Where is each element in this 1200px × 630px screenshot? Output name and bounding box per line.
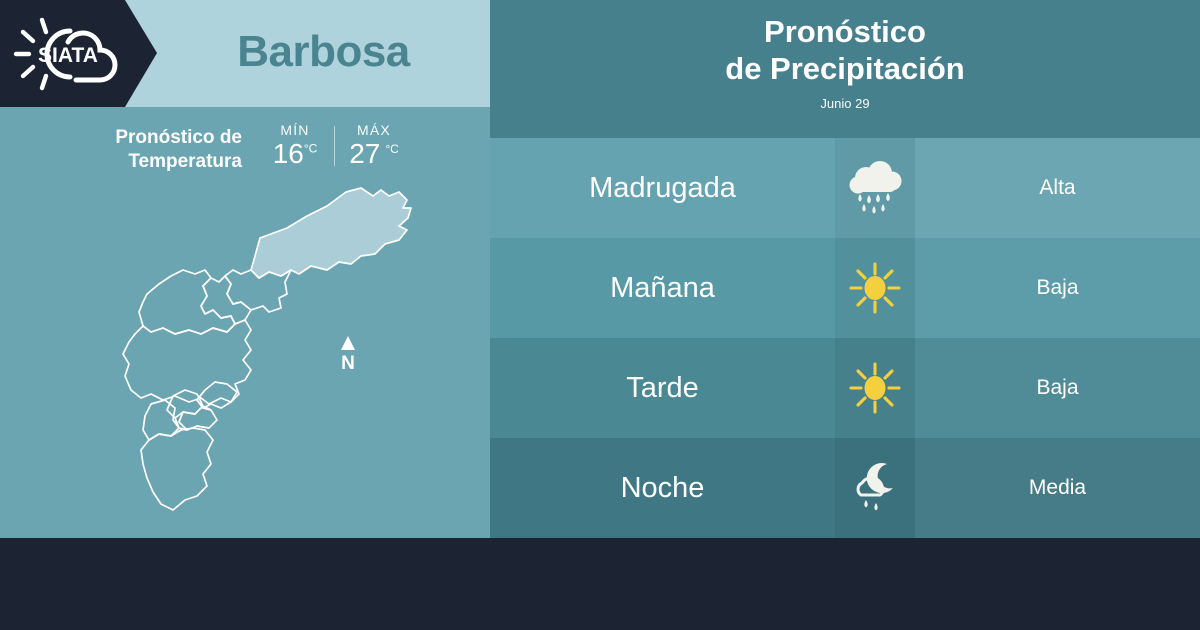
forecast-period-label: Madrugada [589, 172, 736, 205]
forecast-period-cell: Mañana [490, 238, 835, 338]
sun-cloud-icon: SIATA [12, 14, 124, 94]
forecast-period-cell: Noche [490, 438, 835, 538]
table-row[interactable]: Mañana [490, 238, 1200, 338]
forecast-period-cell: Madrugada [490, 138, 835, 238]
forecast-period-label: Noche [621, 472, 705, 505]
temperature-divider [334, 126, 335, 166]
siata-logo-badge: SIATA [0, 0, 157, 107]
precipitation-title-line1: Pronóstico [490, 14, 1200, 51]
table-row[interactable]: Madrugada [490, 138, 1200, 238]
temperature-values: MÍN 16°C MÁX 27°C [258, 122, 411, 168]
map-municipality-caldas[interactable] [141, 428, 213, 510]
sun-icon [847, 360, 903, 416]
forecast-probability-label: Alta [1039, 176, 1075, 200]
forecast-period-label: Tarde [626, 372, 699, 405]
page-title: Barbosa [157, 0, 490, 107]
forecast-period-cell: Tarde [490, 338, 835, 438]
forecast-probability-label: Media [1029, 476, 1086, 500]
temperature-label-line2: Temperatura [60, 150, 242, 174]
map-municipality-sabaneta[interactable] [179, 406, 217, 430]
precipitation-title-line2: de Precipitación [490, 51, 1200, 88]
temperature-max-unit: °C [385, 142, 398, 156]
aburra-valley-map: N [55, 178, 465, 533]
temperature-min-caption: MÍN [258, 122, 332, 138]
precipitation-header: Pronóstico de Precipitación Junio 29 [490, 0, 1200, 138]
footer: @siatamedellin www.siata.gov.co Con el a… [0, 538, 1200, 630]
weather-forecast-infographic: SIATA Barbosa Pronóstico de Temperatura … [0, 0, 1200, 630]
forecast-probability-cell: Media [915, 438, 1200, 538]
forecast-period-label: Mañana [610, 272, 715, 305]
forecast-icon-cell [835, 338, 915, 438]
forecast-probability-cell: Baja [915, 238, 1200, 338]
forecast-icon-cell [835, 438, 915, 538]
temperature-max-caption: MÁX [337, 122, 411, 138]
siata-logo-text: SIATA [38, 44, 98, 67]
temperature-min: MÍN 16°C [258, 122, 332, 168]
city-title-bar: SIATA Barbosa [0, 0, 490, 107]
temperature-label-line1: Pronóstico de [60, 126, 242, 150]
temperature-min-value: 16°C [258, 139, 332, 168]
forecast-probability-label: Baja [1036, 376, 1078, 400]
precipitation-panel: Pronóstico de Precipitación Junio 29 Mad… [490, 0, 1200, 538]
temperature-max-value: 27°C [337, 139, 411, 168]
temperature-min-unit: °C [304, 142, 317, 156]
temperature-panel: SIATA Barbosa Pronóstico de Temperatura … [0, 0, 490, 538]
map-municipality-itagui[interactable] [167, 390, 203, 418]
forecast-date: Junio 29 [490, 96, 1200, 111]
forecast-probability-label: Baja [1036, 276, 1078, 300]
forecast-icon-cell [835, 238, 915, 338]
map-municipality-girardota[interactable] [225, 270, 291, 312]
precipitation-title: Pronóstico de Precipitación [490, 0, 1200, 87]
temperature-max: MÁX 27°C [337, 122, 411, 168]
temperature-label: Pronóstico de Temperatura [60, 122, 242, 175]
rain-cloud-icon [844, 160, 906, 216]
map-svg: N [55, 178, 465, 533]
sun-icon [847, 260, 903, 316]
map-municipality-barbosa[interactable] [251, 188, 411, 278]
forecast-probability-cell: Alta [915, 138, 1200, 238]
temperature-forecast: Pronóstico de Temperatura MÍN 16°C MÁX 2… [60, 122, 460, 184]
compass-label: N [341, 353, 355, 374]
forecast-icon-cell [835, 138, 915, 238]
forecast-probability-cell: Baja [915, 338, 1200, 438]
table-row[interactable]: Tarde [490, 338, 1200, 438]
moon-cloud-rain-icon [847, 460, 903, 516]
table-row[interactable]: Noche Media [490, 438, 1200, 538]
compass-rose: N [341, 336, 355, 374]
forecast-rows: Madrugada [490, 138, 1200, 538]
